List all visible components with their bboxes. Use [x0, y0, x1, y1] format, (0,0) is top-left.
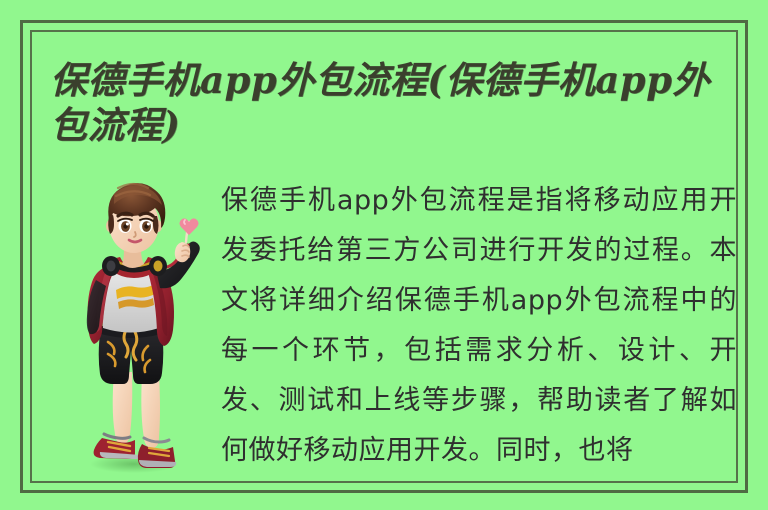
character-head	[106, 183, 165, 268]
page-title: 保德手机app外包流程(保德手机app外包流程)	[50, 58, 740, 148]
illustration-character	[56, 176, 216, 476]
article-body: 保德手机app外包流程是指将移动应用开发委托给第三方公司进行开发的过程。本文将详…	[221, 176, 737, 476]
article-card: 保德手机app外包流程(保德手机app外包流程)	[0, 0, 768, 510]
